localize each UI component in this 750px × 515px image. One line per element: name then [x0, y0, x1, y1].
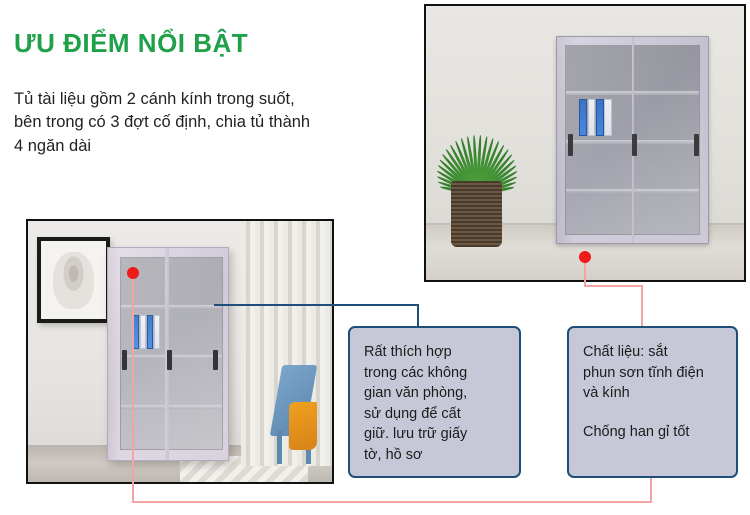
connector-line-pink-studio-drop: [641, 285, 643, 328]
marker-dot-room: [127, 267, 139, 279]
door-handle: [694, 134, 699, 156]
door-handle: [167, 350, 172, 370]
infographic-stage: ƯU ĐIỂM NỔI BẬT Tủ tài liệu gồm 2 cánh k…: [0, 0, 750, 515]
intro-description: Tủ tài liệu gồm 2 cánh kính trong suốt, …: [14, 88, 434, 158]
connector-line-pink-studio-horizontal: [584, 285, 643, 287]
callout-usage-text: Rất thích hợp trong các không gian văn p…: [364, 342, 507, 465]
connector-line-pink-bottom-rail: [132, 501, 652, 503]
plant-pot: [451, 181, 502, 247]
callout-material: Chất liệu: sắt phun sơn tĩnh điện và kín…: [567, 326, 738, 478]
room-scene: [28, 221, 332, 482]
page-title: ƯU ĐIỂM NỔI BẬT: [14, 28, 248, 59]
callout-usage: Rất thích hợp trong các không gian văn p…: [348, 326, 521, 478]
folding-chair: [265, 365, 326, 464]
studio-scene: [426, 6, 744, 280]
marker-dot-studio: [579, 251, 591, 263]
cabinet-body: [556, 36, 709, 244]
callout-material-text-primary: Chất liệu: sắt phun sơn tĩnh điện và kín…: [583, 342, 724, 404]
photo-cabinet-studio: [424, 4, 746, 282]
connector-line-pink-room-riser: [650, 477, 652, 503]
lion-picture-frame: [37, 237, 110, 323]
connector-line-pink-room-vertical: [132, 273, 134, 503]
chair-leg: [277, 430, 282, 464]
door-handle: [213, 350, 218, 370]
callout-spacer: [583, 404, 724, 422]
callout-material-text-secondary: Chống han gỉ tốt: [583, 422, 724, 443]
door-handle: [568, 134, 573, 156]
connector-line-blue-horizontal: [214, 304, 419, 306]
photo-cabinet-room: [26, 219, 334, 484]
cabinet-body: [107, 247, 229, 461]
lion-illustration: [53, 252, 95, 310]
orange-blanket: [289, 402, 317, 450]
door-handle: [632, 134, 637, 156]
door-handle: [122, 350, 127, 370]
connector-line-blue-vertical: [417, 304, 419, 328]
